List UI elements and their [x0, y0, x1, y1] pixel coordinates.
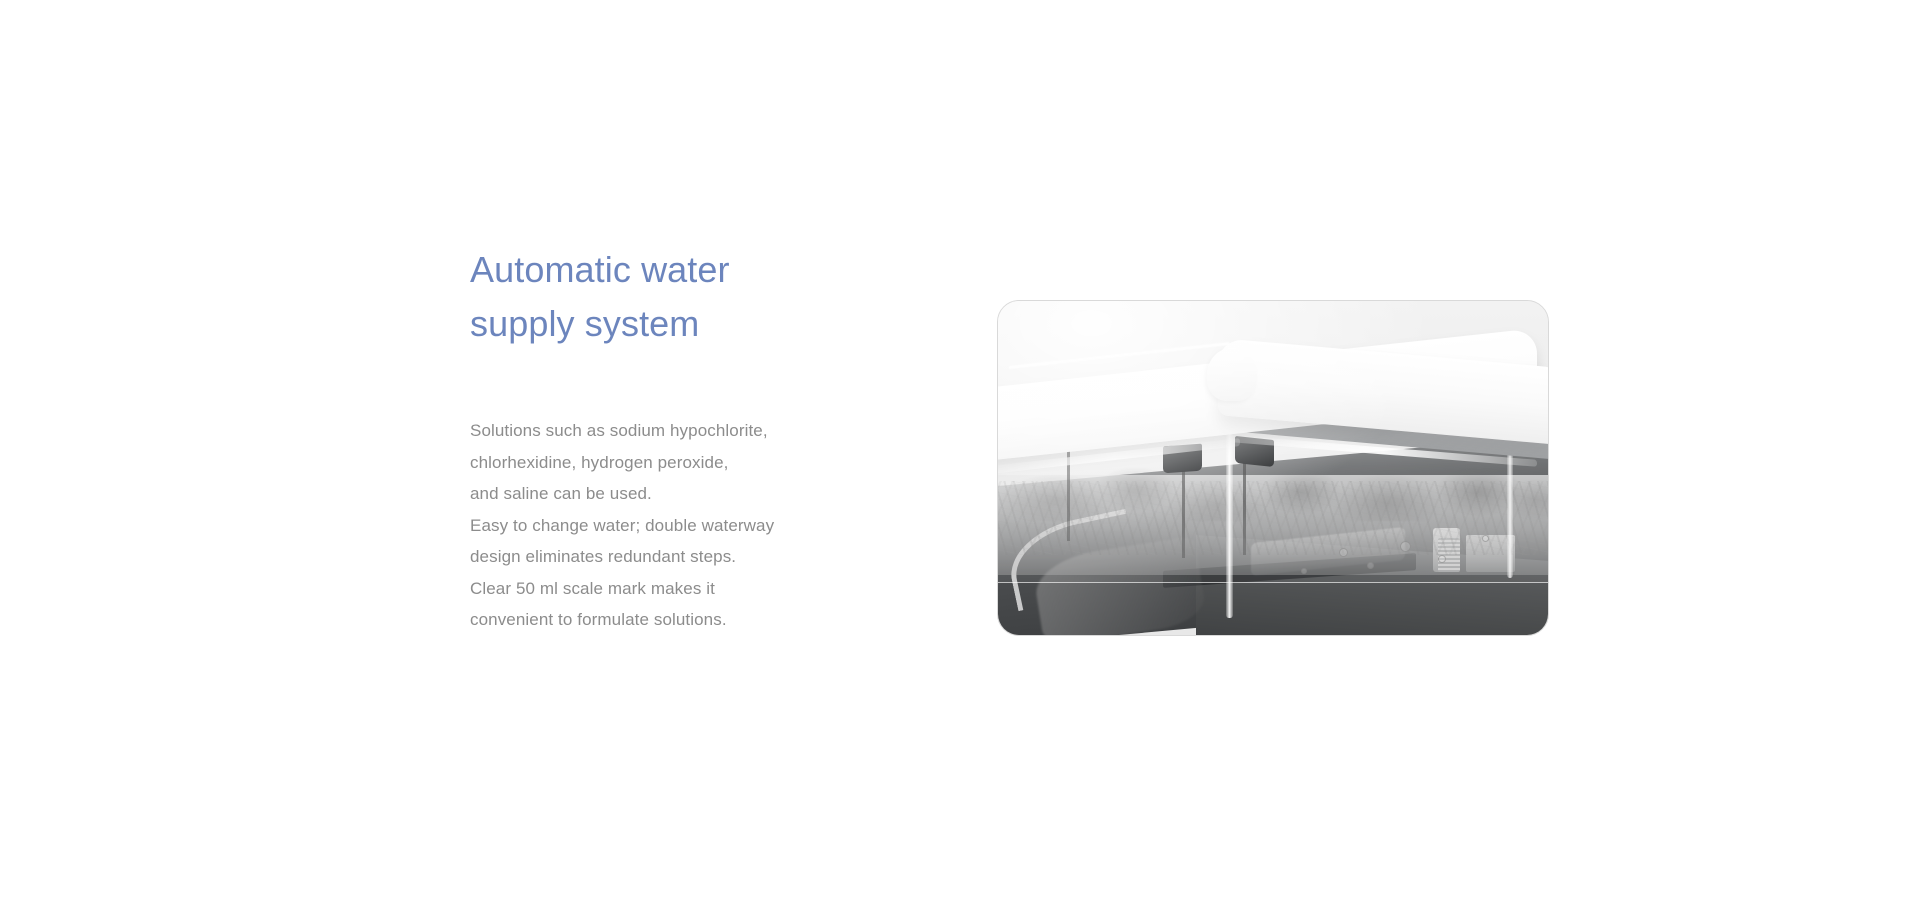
description-line: convenient to formulate solutions.: [470, 604, 900, 636]
description-line: Clear 50 ml scale mark makes it: [470, 573, 900, 605]
product-scene: [998, 301, 1548, 635]
product-image: [997, 300, 1549, 636]
feature-heading: Automatic water supply system: [470, 243, 890, 351]
description-line: chlorhexidine, hydrogen peroxide,: [470, 447, 900, 479]
feature-description: Solutions such as sodium hypochlorite, c…: [470, 415, 900, 636]
feature-text-block: Automatic water supply system Solutions …: [470, 243, 890, 351]
tank-post: [1243, 455, 1246, 555]
description-line: design eliminates redundant steps.: [470, 541, 900, 573]
lid-corner-highlight: [1207, 348, 1257, 401]
description-line: Solutions such as sodium hypochlorite,: [470, 415, 900, 447]
page-root: Automatic water supply system Solutions …: [0, 0, 1920, 901]
tank-corner-edge: [1226, 411, 1233, 618]
description-line: Easy to change water; double waterway: [470, 510, 900, 542]
description-line: and saline can be used.: [470, 478, 900, 510]
